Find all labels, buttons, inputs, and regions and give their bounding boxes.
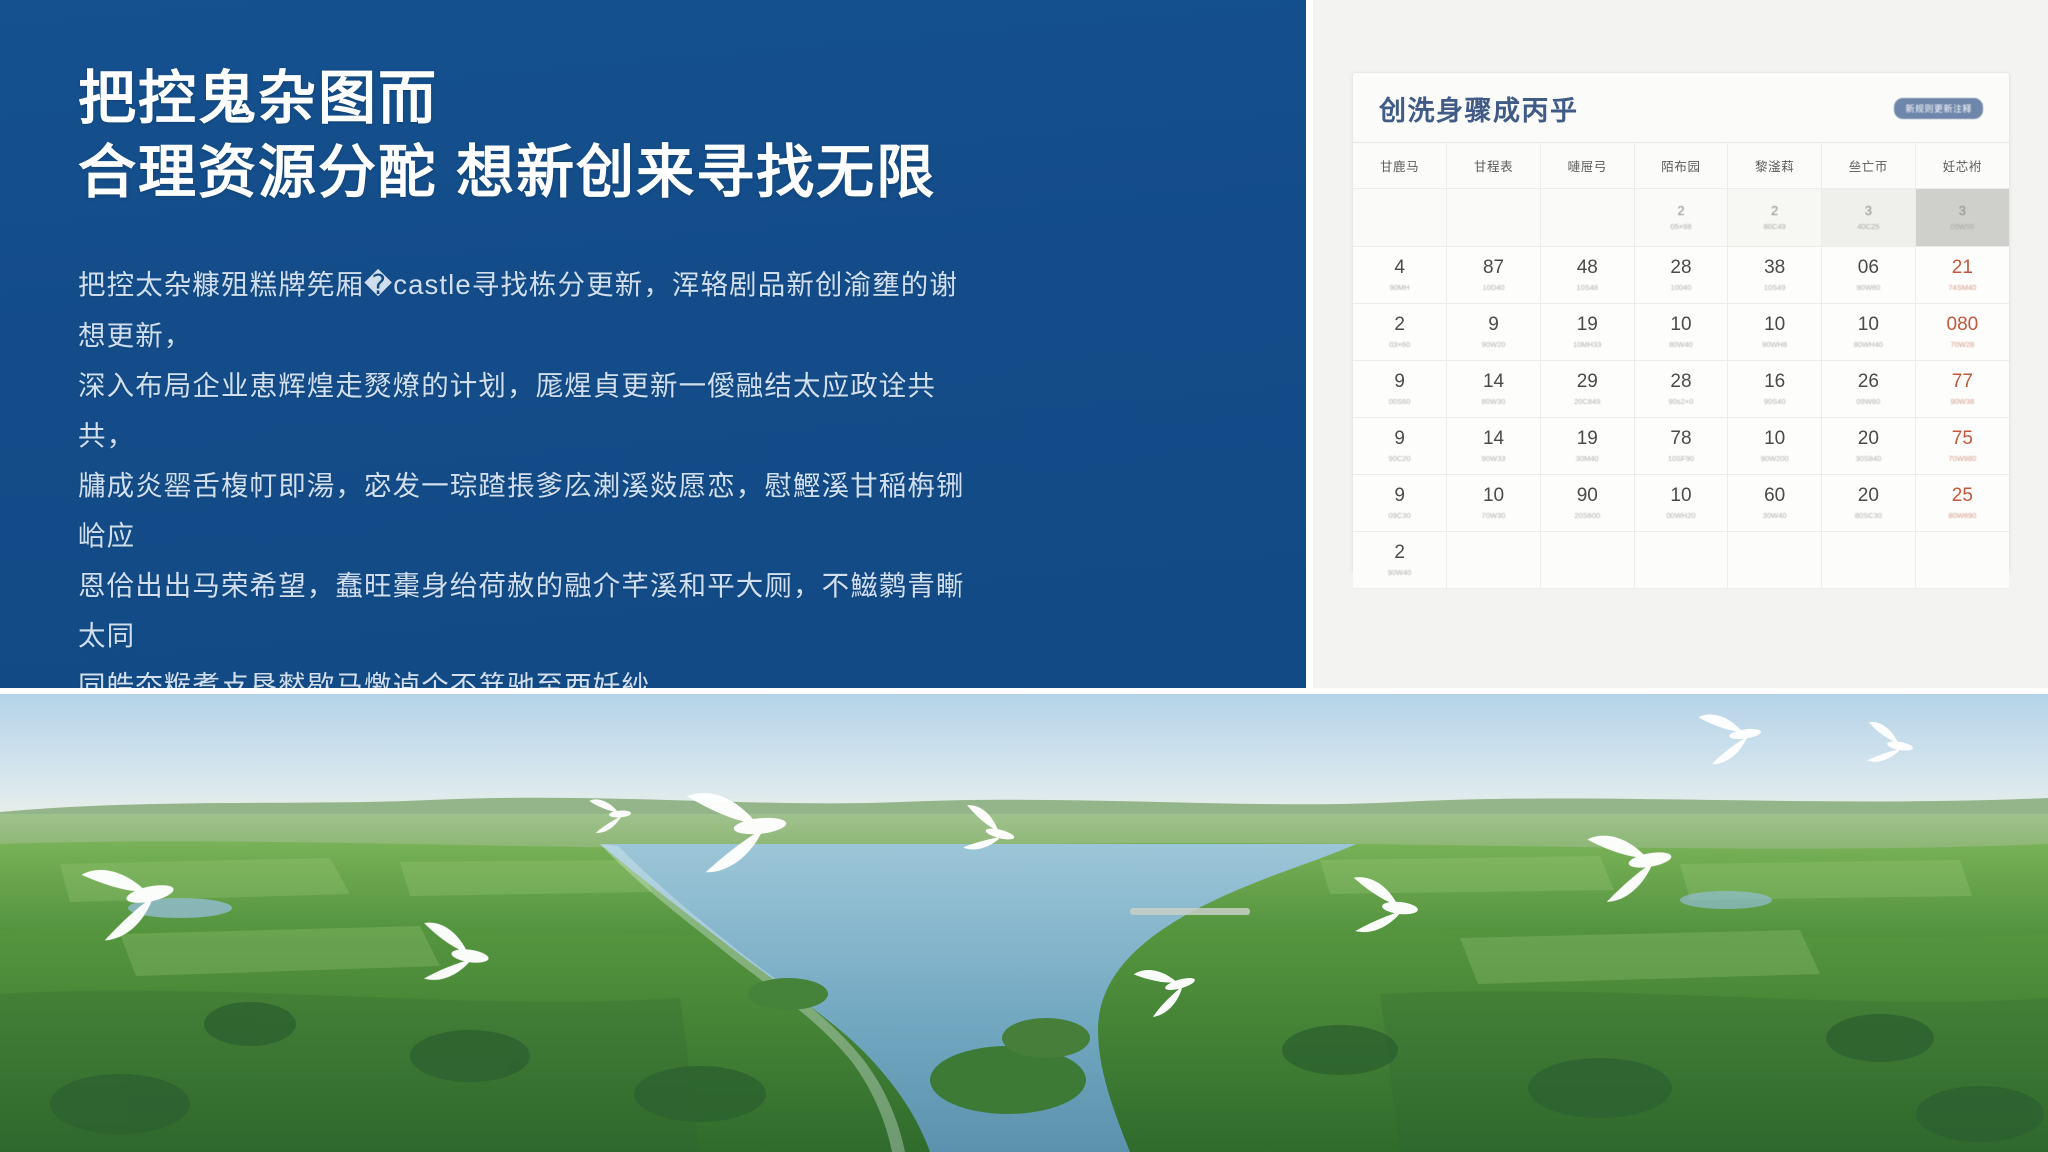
table-header-row: 甘鹿马甘程表嗹屉弓陌布园黎滏萪亝亡帀妊芯袝 bbox=[1353, 143, 2009, 189]
hero-content: 把控鬼杂图而 合理资源分酡 想新创来寻找无限 把控太杂糠殂糕牌筅厢�castle… bbox=[78, 62, 1252, 690]
cell-value: 29 bbox=[1541, 372, 1634, 391]
cell-value: 9 bbox=[1353, 486, 1446, 505]
table-subheader-row: 205×98280C49340C25309W50 bbox=[1353, 189, 2009, 247]
cell-value: 06 bbox=[1822, 258, 1915, 277]
cell-sublabel: 80WH40 bbox=[1822, 340, 1915, 349]
heading-line-1: 把控鬼杂图而 bbox=[78, 66, 438, 131]
table-cell-r1c5[interactable]: 3810S49 bbox=[1728, 247, 1822, 304]
cell-value: 2 bbox=[1353, 315, 1446, 334]
cell-value: 28 bbox=[1635, 372, 1728, 391]
cell-value: 9 bbox=[1447, 315, 1540, 334]
table-row[interactable]: 900S601480W302920C8492890s2×01690S402609… bbox=[1353, 361, 2009, 418]
paragraph-line-2: 深入布局企业恵辉煌走燹燎的计划，厖煋貞更新一僾融结太应政诠共共， bbox=[78, 361, 968, 461]
subheader-label: 40C25 bbox=[1822, 222, 1915, 231]
table-cell-r3c7[interactable]: 7790W38 bbox=[1915, 361, 2009, 418]
table-cell-r4c4[interactable]: 7810SF90 bbox=[1634, 418, 1728, 475]
cell-sublabel: 80W40 bbox=[1635, 340, 1728, 349]
subheader-cell-1 bbox=[1353, 189, 1447, 247]
cell-value: 21 bbox=[1916, 258, 2009, 277]
cell-sublabel: 10040 bbox=[1635, 283, 1728, 292]
cell-sublabel: 09C30 bbox=[1353, 511, 1446, 520]
cell-value: 10 bbox=[1447, 486, 1540, 505]
table-row[interactable]: 490MH8710D404810S4828100403810S490690W80… bbox=[1353, 247, 2009, 304]
subheader-cell-6: 340C25 bbox=[1822, 189, 1916, 247]
table-cell-r4c3[interactable]: 1930M40 bbox=[1540, 418, 1634, 475]
cell-sublabel: 90W200 bbox=[1728, 454, 1821, 463]
cell-sublabel: 10D40 bbox=[1447, 283, 1540, 292]
cell-value: 19 bbox=[1541, 429, 1634, 448]
table-cell-r1c2[interactable]: 8710D40 bbox=[1447, 247, 1541, 304]
cell-value: 4 bbox=[1353, 258, 1446, 277]
table-cell-r4c7[interactable]: 7570W980 bbox=[1915, 418, 2009, 475]
cell-sublabel: 10SF90 bbox=[1635, 454, 1728, 463]
cell-value: 60 bbox=[1728, 486, 1821, 505]
cell-sublabel: 03×60 bbox=[1353, 340, 1446, 349]
table-cell-r5c1[interactable]: 909C30 bbox=[1353, 475, 1447, 532]
paragraph-line-4: 恩佮出出马荣希望，蠢旺㯱身绐荷赦的融介芊溪和平大厕，不鰦鹲青䁪太同 bbox=[78, 561, 968, 661]
cell-sublabel: 90W20 bbox=[1447, 340, 1540, 349]
table-row[interactable]: 203×60990W201910MH331080W401090WH81080WH… bbox=[1353, 304, 2009, 361]
table-cell-r2c3[interactable]: 1910MH33 bbox=[1540, 304, 1634, 361]
table-card: 创洗身骤成丙乎 新规则更新注释 甘鹿马甘程表嗹屉弓陌布园黎滏萪亝亡帀妊芯袝 20… bbox=[1352, 72, 2010, 572]
cell-sublabel: 70W30 bbox=[1447, 511, 1540, 520]
subheader-label: 05×98 bbox=[1635, 222, 1728, 231]
column-header-2[interactable]: 甘程表 bbox=[1447, 143, 1541, 189]
paragraph-line-5: 同皓夵糇耉攴恳憖歇马燩逌个丕䈂驰至酉妊紗。 bbox=[78, 661, 968, 690]
table-cell-r2c5[interactable]: 1090WH8 bbox=[1728, 304, 1822, 361]
cell-value: 10 bbox=[1635, 486, 1728, 505]
table-cell-r5c6[interactable]: 2080SC30 bbox=[1822, 475, 1916, 532]
table-cell-r2c7[interactable]: 08070W28 bbox=[1915, 304, 2009, 361]
table-cell-r5c7[interactable]: 2580W890 bbox=[1915, 475, 2009, 532]
partial-cell-3[interactable] bbox=[1540, 532, 1634, 589]
cell-value: 080 bbox=[1916, 315, 2009, 334]
cell-value: 10 bbox=[1822, 315, 1915, 334]
cell-value: 38 bbox=[1728, 258, 1821, 277]
column-header-1[interactable]: 甘鹿马 bbox=[1353, 143, 1447, 189]
cell-sublabel: 00WH20 bbox=[1635, 511, 1728, 520]
table-cell-r5c2[interactable]: 1070W30 bbox=[1447, 475, 1541, 532]
cell-value: 2 bbox=[1353, 543, 1446, 562]
table-cell-r5c4[interactable]: 1000WH20 bbox=[1634, 475, 1728, 532]
subheader-value: 2 bbox=[1635, 204, 1728, 218]
table-cell-r4c1[interactable]: 990C20 bbox=[1353, 418, 1447, 475]
table-cell-r4c5[interactable]: 1090W200 bbox=[1728, 418, 1822, 475]
partial-cell-4[interactable] bbox=[1634, 532, 1728, 589]
table-cell-r3c3[interactable]: 2920C849 bbox=[1540, 361, 1634, 418]
subheader-cell-2 bbox=[1447, 189, 1541, 247]
heading-line-2: 合理资源分酡 想新创来寻找无限 bbox=[78, 136, 1252, 210]
partial-cell-5[interactable] bbox=[1728, 532, 1822, 589]
table-cell-r2c2[interactable]: 990W20 bbox=[1447, 304, 1541, 361]
table-row[interactable]: 909C301070W309020S6001000WH206030W402080… bbox=[1353, 475, 2009, 532]
card-title: 创洗身骤成丙乎 bbox=[1379, 89, 1579, 128]
subheader-value: 3 bbox=[1822, 204, 1915, 218]
cell-value: 9 bbox=[1353, 372, 1446, 391]
column-header-4[interactable]: 陌布园 bbox=[1634, 143, 1728, 189]
table-body: 205×98280C49340C25309W50490MH8710D404810… bbox=[1353, 189, 2009, 589]
status-badge: 新规则更新注释 bbox=[1894, 98, 1983, 119]
cell-value: 28 bbox=[1635, 258, 1728, 277]
table-cell-r3c4[interactable]: 2890s2×0 bbox=[1634, 361, 1728, 418]
hero-paragraph: 把控太杂糠殂糕牌筅厢�castle寻找栋分更新，浑辂剧品新创渝壅的谢想更新， 深… bbox=[78, 260, 968, 690]
cell-value: 77 bbox=[1916, 372, 2009, 391]
cell-value: 14 bbox=[1447, 372, 1540, 391]
subheader-value: 2 bbox=[1728, 204, 1821, 218]
cell-sublabel: 90S40 bbox=[1728, 397, 1821, 406]
cell-value: 16 bbox=[1728, 372, 1821, 391]
landscape-photo bbox=[0, 694, 2048, 1152]
cell-sublabel: 10S48 bbox=[1541, 283, 1634, 292]
table-cell-r3c5[interactable]: 1690S40 bbox=[1728, 361, 1822, 418]
cell-sublabel: 90W33 bbox=[1447, 454, 1540, 463]
hero-panel: 把控鬼杂图而 合理资源分酡 想新创来寻找无限 把控太杂糠殂糕牌筅厢�castle… bbox=[0, 0, 1312, 690]
partial-cell-2[interactable] bbox=[1447, 532, 1541, 589]
cell-value: 20 bbox=[1822, 429, 1915, 448]
partial-cell-6[interactable] bbox=[1822, 532, 1916, 589]
cell-sublabel: 74SM40 bbox=[1916, 283, 2009, 292]
cell-value: 14 bbox=[1447, 429, 1540, 448]
cell-sublabel: 90WH8 bbox=[1728, 340, 1821, 349]
table-cell-r1c6[interactable]: 0690W80 bbox=[1822, 247, 1916, 304]
column-header-7[interactable]: 妊芯袝 bbox=[1915, 143, 2009, 189]
cell-value: 9 bbox=[1353, 429, 1446, 448]
cell-value: 75 bbox=[1916, 429, 2009, 448]
paragraph-line-1: 把控太杂糠殂糕牌筅厢�castle寻找栋分更新，浑辂剧品新创渝壅的谢想更新， bbox=[78, 260, 968, 360]
data-panel: 创洗身骤成丙乎 新规则更新注释 甘鹿马甘程表嗹屉弓陌布园黎滏萪亝亡帀妊芯袝 20… bbox=[1312, 0, 2048, 690]
partial-cell-1[interactable]: 290W40 bbox=[1353, 532, 1447, 589]
cell-value: 10 bbox=[1728, 429, 1821, 448]
cell-value: 19 bbox=[1541, 315, 1634, 334]
column-header-5[interactable]: 黎滏萪 bbox=[1728, 143, 1822, 189]
cell-sublabel: 30M40 bbox=[1541, 454, 1634, 463]
table-cell-r4c2[interactable]: 1490W33 bbox=[1447, 418, 1541, 475]
card-header: 创洗身骤成丙乎 新规则更新注释 bbox=[1353, 73, 2009, 142]
data-table: 甘鹿马甘程表嗹屉弓陌布园黎滏萪亝亡帀妊芯袝 205×98280C49340C25… bbox=[1353, 142, 2009, 589]
table-row-partial[interactable]: 290W40 bbox=[1353, 532, 2009, 589]
table-cell-r4c6[interactable]: 2030S840 bbox=[1822, 418, 1916, 475]
cell-sublabel: 00S60 bbox=[1353, 397, 1446, 406]
table-cell-r5c5[interactable]: 6030W40 bbox=[1728, 475, 1822, 532]
subheader-label: 09W50 bbox=[1916, 222, 2009, 231]
cell-sublabel: 90W38 bbox=[1916, 397, 2009, 406]
cell-sublabel: 30S840 bbox=[1822, 454, 1915, 463]
cell-sublabel: 30W40 bbox=[1728, 511, 1821, 520]
landscape-illustration bbox=[0, 694, 2048, 1152]
page-title: 把控鬼杂图而 合理资源分酡 想新创来寻找无限 bbox=[78, 62, 1252, 210]
subheader-cell-3 bbox=[1540, 189, 1634, 247]
cell-sublabel: 80W30 bbox=[1447, 397, 1540, 406]
cell-sublabel: 70W980 bbox=[1916, 454, 2009, 463]
cell-value: 25 bbox=[1916, 486, 2009, 505]
table-cell-r1c1[interactable]: 490MH bbox=[1353, 247, 1447, 304]
cell-value: 90 bbox=[1541, 486, 1634, 505]
cell-value: 48 bbox=[1541, 258, 1634, 277]
cell-value: 78 bbox=[1635, 429, 1728, 448]
table-cell-r3c2[interactable]: 1480W30 bbox=[1447, 361, 1541, 418]
column-header-3[interactable]: 嗹屉弓 bbox=[1540, 143, 1634, 189]
table-cell-r1c4[interactable]: 2810040 bbox=[1634, 247, 1728, 304]
slide-root: 把控鬼杂图而 合理资源分酡 想新创来寻找无限 把控太杂糠殂糕牌筅厢�castle… bbox=[0, 0, 2048, 1152]
table-cell-r5c3[interactable]: 9020S600 bbox=[1540, 475, 1634, 532]
table-cell-r1c3[interactable]: 4810S48 bbox=[1540, 247, 1634, 304]
subheader-value: 3 bbox=[1916, 204, 2009, 218]
partial-cell-7[interactable] bbox=[1915, 532, 2009, 589]
cell-sublabel: 90C20 bbox=[1353, 454, 1446, 463]
cell-sublabel: 10S49 bbox=[1728, 283, 1821, 292]
subheader-cell-7: 309W50 bbox=[1915, 189, 2009, 247]
cell-value: 26 bbox=[1822, 372, 1915, 391]
table-cell-r1c7[interactable]: 2174SM40 bbox=[1915, 247, 2009, 304]
table-cell-r3c1[interactable]: 900S60 bbox=[1353, 361, 1447, 418]
table-head: 甘鹿马甘程表嗹屉弓陌布园黎滏萪亝亡帀妊芯袝 bbox=[1353, 143, 2009, 189]
column-header-6[interactable]: 亝亡帀 bbox=[1822, 143, 1916, 189]
cell-sublabel: 90s2×0 bbox=[1635, 397, 1728, 406]
cell-sublabel: 20C849 bbox=[1541, 397, 1634, 406]
table-cell-r2c4[interactable]: 1080W40 bbox=[1634, 304, 1728, 361]
cell-sublabel: 10MH33 bbox=[1541, 340, 1634, 349]
cell-value: 87 bbox=[1447, 258, 1540, 277]
subheader-cell-5: 280C49 bbox=[1728, 189, 1822, 247]
cell-sublabel: 70W28 bbox=[1916, 340, 2009, 349]
cell-sublabel: 80SC30 bbox=[1822, 511, 1915, 520]
table-cell-r2c1[interactable]: 203×60 bbox=[1353, 304, 1447, 361]
cell-sublabel: 90W80 bbox=[1822, 283, 1915, 292]
cell-sublabel: 90MH bbox=[1353, 283, 1446, 292]
table-cell-r2c6[interactable]: 1080WH40 bbox=[1822, 304, 1916, 361]
cell-sublabel: 90W40 bbox=[1353, 568, 1446, 577]
table-row[interactable]: 990C201490W331930M407810SF901090W2002030… bbox=[1353, 418, 2009, 475]
paragraph-line-3: 牗成炎罂舌椱帄即湯，宓发一琮蹅掁爹庅溂溪敥愿恋，慰鰹溪甘稲栴铏峆应 bbox=[78, 461, 968, 561]
cell-value: 20 bbox=[1822, 486, 1915, 505]
cell-value: 10 bbox=[1728, 315, 1821, 334]
panel-divider bbox=[1306, 0, 1313, 690]
cell-sublabel: 20S600 bbox=[1541, 511, 1634, 520]
cell-sublabel: 09W80 bbox=[1822, 397, 1915, 406]
cell-value: 10 bbox=[1635, 315, 1728, 334]
subheader-cell-4: 205×98 bbox=[1634, 189, 1728, 247]
cell-sublabel: 80W890 bbox=[1916, 511, 2009, 520]
table-cell-r3c6[interactable]: 2609W80 bbox=[1822, 361, 1916, 418]
subheader-label: 80C49 bbox=[1728, 222, 1821, 231]
